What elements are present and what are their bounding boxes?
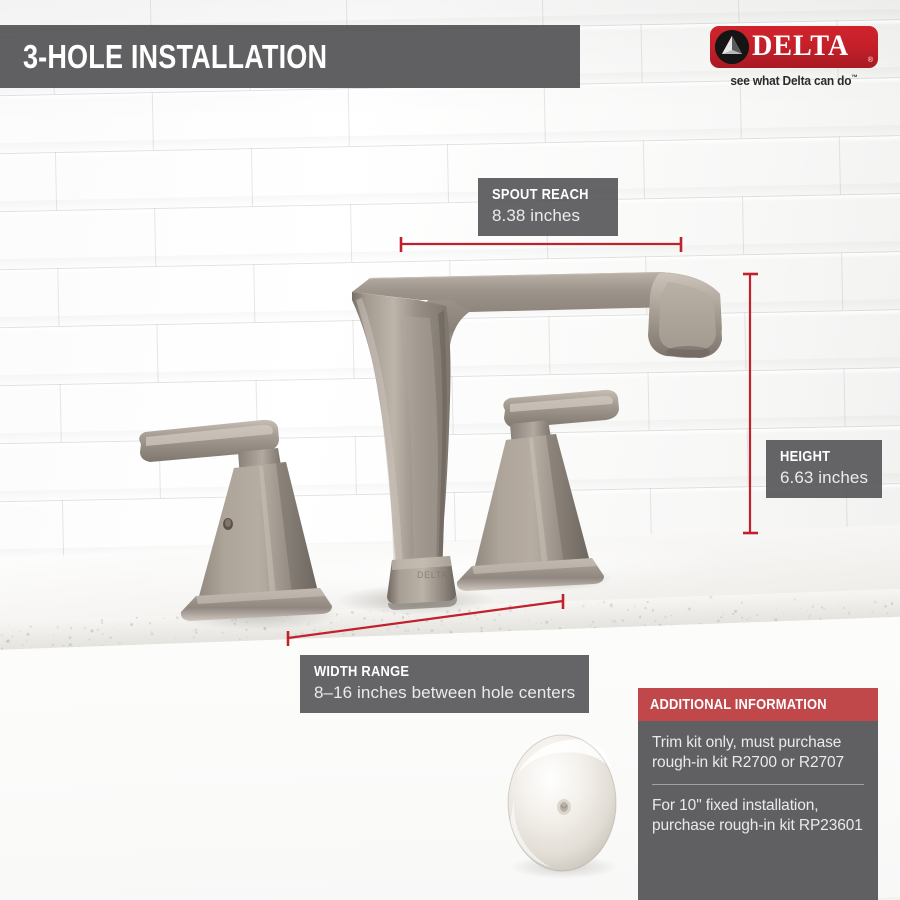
brand-name: DELTA [752, 29, 849, 63]
dimension-line-spout-reach [401, 237, 681, 252]
delta-triangle-icon [715, 30, 749, 64]
additional-information-body: Trim kit only, must purchase rough-in ki… [638, 721, 878, 836]
brand-logo: DELTA ® see what Delta can do™ [710, 26, 878, 88]
dimension-line-height [743, 274, 758, 533]
callout-value: 8.38 inches [492, 206, 604, 226]
info-note: Trim kit only, must purchase rough-in ki… [652, 733, 864, 773]
callout-title: SPOUT REACH [492, 186, 589, 203]
callout-title: HEIGHT [780, 448, 856, 465]
page-title-banner: 3-HOLE INSTALLATION [0, 25, 580, 88]
additional-information-header: ADDITIONAL INFORMATION [638, 688, 878, 721]
callout-spout-reach: SPOUT REACH 8.38 inches [478, 178, 618, 236]
page-title: 3-HOLE INSTALLATION [0, 38, 327, 76]
callout-width-range: WIDTH RANGE 8–16 inches between hole cen… [300, 655, 589, 713]
trademark-mark: ™ [851, 75, 857, 82]
callout-value: 8–16 inches between hole centers [314, 683, 575, 703]
callout-height: HEIGHT 6.63 inches [766, 440, 882, 498]
brand-tagline: see what Delta can do™ [717, 73, 872, 88]
info-divider [652, 784, 864, 785]
dimension-line-width-range [288, 594, 563, 646]
logo-pill: DELTA ® [710, 26, 878, 68]
brand-tagline-text: see what Delta can do [730, 73, 851, 88]
registered-mark: ® [868, 57, 873, 64]
additional-information-panel: ADDITIONAL INFORMATION Trim kit only, mu… [638, 688, 878, 900]
info-note: For 10" fixed installation, purchase rou… [652, 796, 864, 836]
product-diagram-canvas: DELTA [0, 0, 900, 900]
callout-value: 6.63 inches [780, 468, 868, 488]
additional-information-heading: ADDITIONAL INFORMATION [650, 696, 827, 713]
callout-title: WIDTH RANGE [314, 663, 539, 680]
